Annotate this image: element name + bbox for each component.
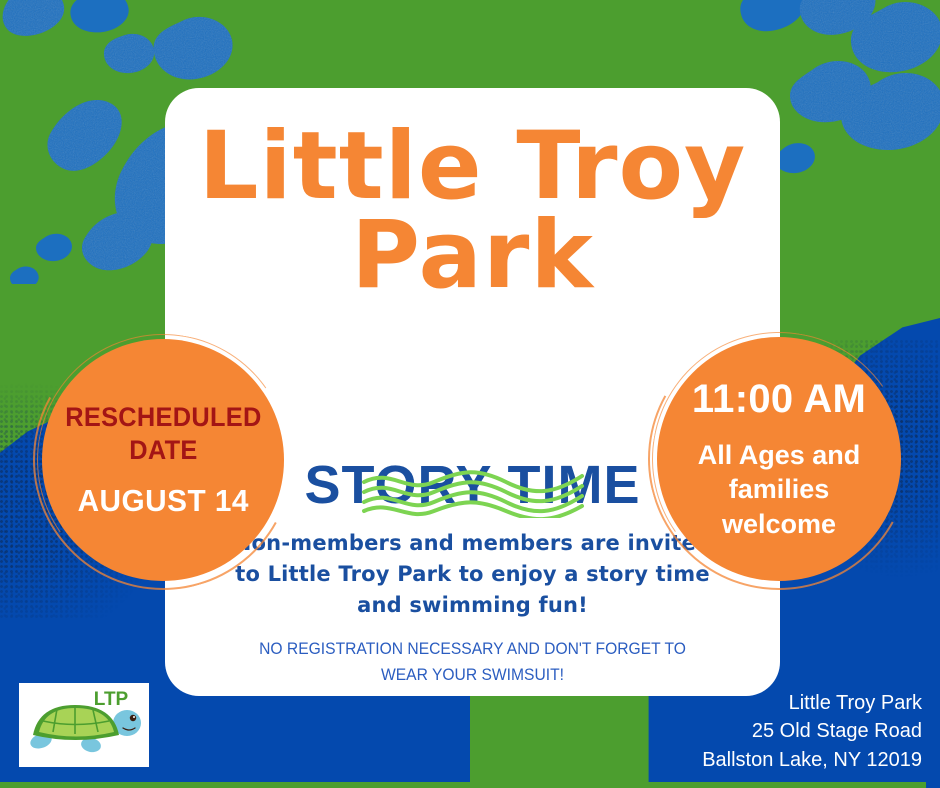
registration-note: NO REGISTRATION NECESSARY AND DON'T FORG… [226, 636, 718, 687]
wavy-lines-icon [358, 466, 588, 518]
logo-initials-text: LTP [94, 689, 129, 710]
note-line-2: WEAR YOUR SWIMSUIT! [226, 662, 718, 688]
audience-line-1: All Ages and [698, 438, 861, 473]
address-line-1: Little Troy Park [702, 689, 922, 717]
audience-line-2: families [698, 472, 861, 507]
invite-line-2: to Little Troy Park to enjoy a story tim… [187, 559, 758, 590]
address-line-2: 25 Old Stage Road [702, 717, 922, 745]
flyer-poster: Little Troy Park STORY TIME Non-members … [0, 0, 940, 788]
audience-line-3: welcome [698, 507, 861, 542]
title-line-2: Park [165, 211, 780, 300]
address-line-3: Ballston Lake, NY 12019 [702, 746, 922, 774]
bottom-strip-blue-cap [926, 782, 940, 788]
rescheduled-line-1: RESCHEDULED [65, 401, 261, 434]
time-audience-badge: 11:00 AM All Ages and families welcome [657, 337, 901, 581]
invite-line-3: and swimming fun! [187, 590, 758, 621]
invite-text: Non-members and members are invited to L… [187, 528, 758, 621]
rescheduled-heading: RESCHEDULED DATE [65, 401, 261, 467]
rescheduled-line-2: DATE [65, 434, 261, 467]
logo: LTP [19, 683, 149, 767]
address-block: Little Troy Park 25 Old Stage Road Balls… [702, 689, 922, 774]
page-title: Little Troy Park [165, 122, 780, 301]
note-line-1: NO REGISTRATION NECESSARY AND DON'T FORG… [226, 636, 718, 662]
rescheduled-date-badge: RESCHEDULED DATE AUGUST 14 [42, 339, 284, 581]
rescheduled-date-value: AUGUST 14 [77, 483, 248, 519]
event-time: 11:00 AM [692, 377, 866, 422]
bottom-green-strip [0, 782, 940, 788]
audience-note: All Ages and families welcome [698, 438, 861, 542]
